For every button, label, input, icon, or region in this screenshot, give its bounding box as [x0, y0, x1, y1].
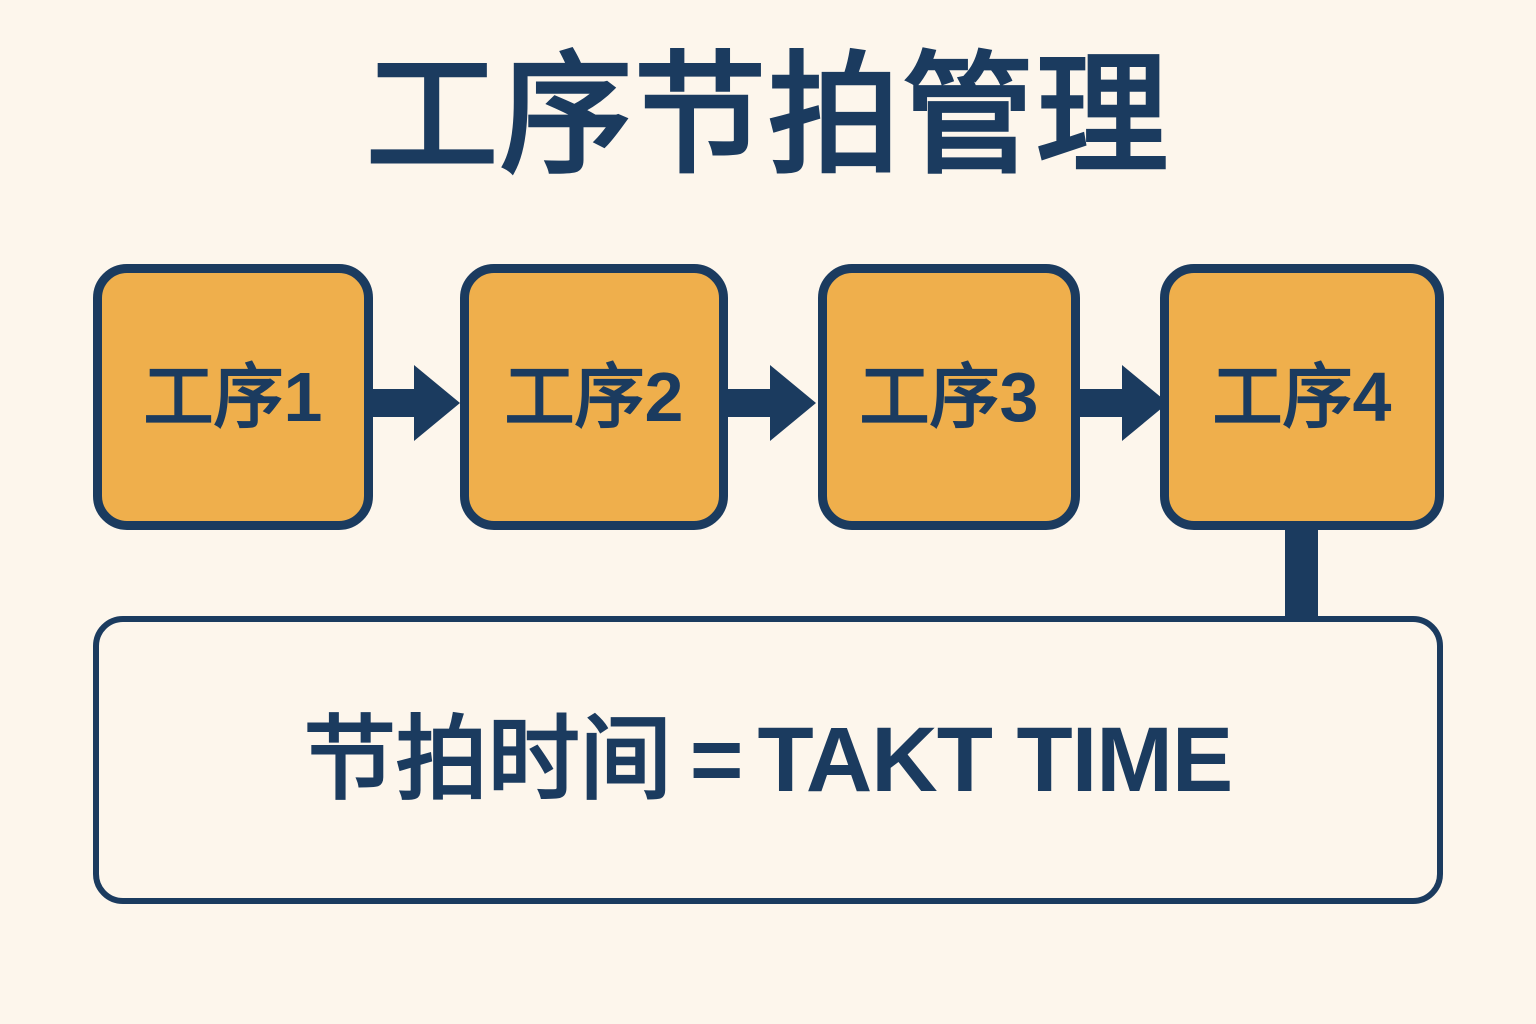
formula-text: 节拍时间 = TAKT TIME	[304, 714, 1233, 806]
arrow-right-icon-2	[726, 363, 816, 443]
formula-equals-sign: =	[672, 714, 758, 806]
process-box-3-label: 工序3	[860, 362, 1039, 432]
process-box-3[interactable]: 工序3	[818, 264, 1080, 530]
page-title: 工序节拍管理	[0, 46, 1536, 186]
process-flow-row: 工序1 工序2 工序3 工序4	[0, 264, 1536, 530]
process-box-2-label: 工序2	[505, 362, 684, 432]
process-box-4[interactable]: 工序4	[1160, 264, 1444, 530]
arrow-right-icon-3	[1078, 363, 1168, 443]
takt-time-formula-box: 节拍时间 = TAKT TIME	[93, 616, 1443, 904]
vertical-connector-line	[1285, 522, 1318, 624]
process-box-1[interactable]: 工序1	[93, 264, 373, 530]
formula-chinese-term: 节拍时间	[304, 714, 672, 806]
arrow-right-icon-1	[370, 363, 460, 443]
process-box-4-label: 工序4	[1213, 362, 1392, 432]
process-box-1-label: 工序1	[144, 362, 323, 432]
diagram-canvas: 工序节拍管理 工序1 工序2 工序3 工序4	[0, 0, 1536, 1024]
process-box-2[interactable]: 工序2	[460, 264, 728, 530]
formula-english-term: TAKT TIME	[757, 714, 1232, 806]
